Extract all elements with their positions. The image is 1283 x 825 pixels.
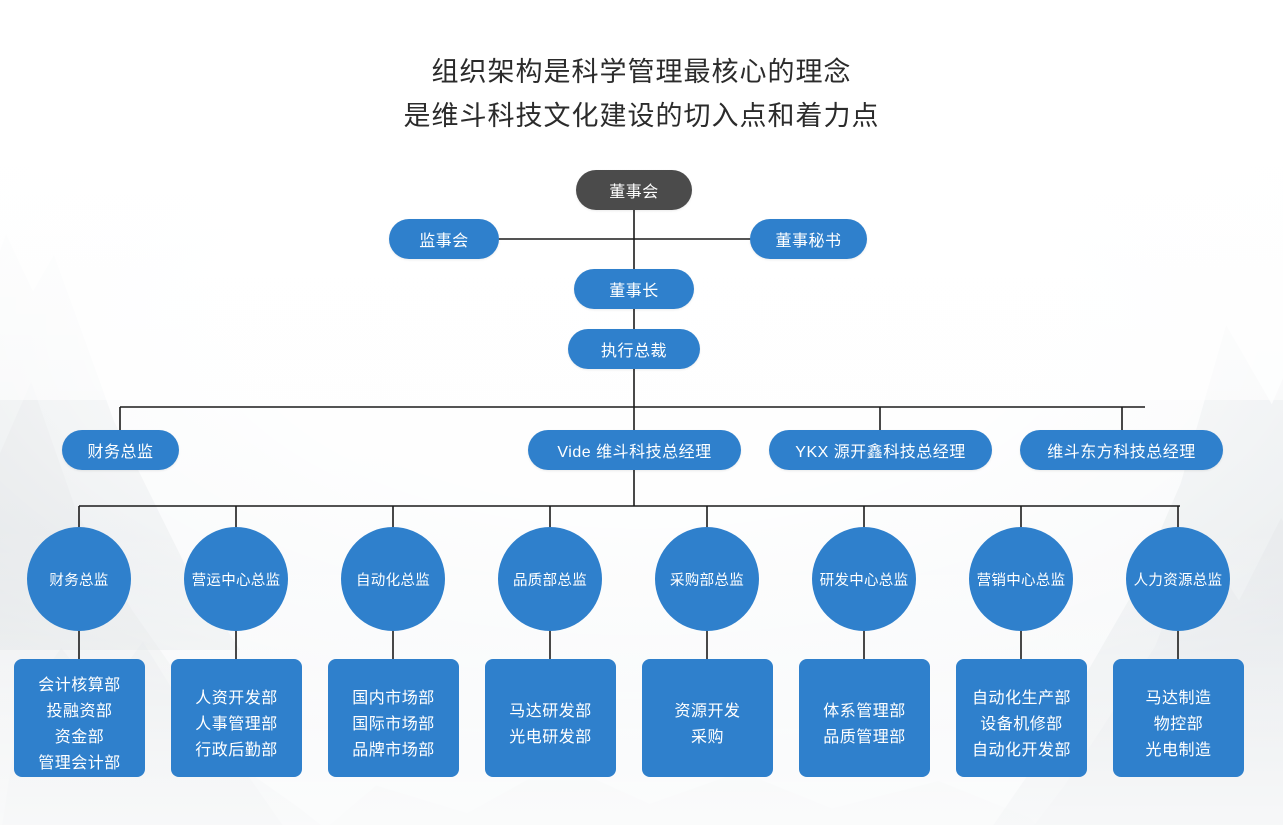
dept-box-quality[interactable]: 马达研发部光电研发部 <box>485 659 616 777</box>
dept-line: 人事管理部 <box>171 712 302 738</box>
page-title-line-2: 是维斗科技文化建设的切入点和着力点 <box>0 94 1283 138</box>
node-board-secretary[interactable]: 董事秘书 <box>750 219 867 259</box>
dept-box-finance[interactable]: 会计核算部投融资部资金部管理会计部 <box>14 659 145 777</box>
dept-line: 自动化开发部 <box>956 738 1087 764</box>
node-director-rnd[interactable]: 研发中心总监 <box>812 527 916 631</box>
dept-box-marketing[interactable]: 自动化生产部设备机修部自动化开发部 <box>956 659 1087 777</box>
node-chairman[interactable]: 董事长 <box>574 269 694 309</box>
node-supervisory-board[interactable]: 监事会 <box>389 219 499 259</box>
dept-line: 行政后勤部 <box>171 738 302 764</box>
dept-line: 光电研发部 <box>485 725 616 751</box>
dept-line: 品牌市场部 <box>328 738 459 764</box>
dept-line: 光电制造 <box>1113 738 1244 764</box>
dept-line: 管理会计部 <box>14 751 145 777</box>
dept-line: 人资开发部 <box>171 686 302 712</box>
node-director-procurement[interactable]: 采购部总监 <box>655 527 759 631</box>
dept-line: 国内市场部 <box>328 686 459 712</box>
dept-box-procurement[interactable]: 资源开发采购 <box>642 659 773 777</box>
node-director-finance[interactable]: 财务总监 <box>27 527 131 631</box>
title-block: 组织架构是科学管理最核心的理念 是维斗科技文化建设的切入点和着力点 <box>0 50 1283 138</box>
page-title-line-1: 组织架构是科学管理最核心的理念 <box>0 50 1283 94</box>
dept-box-hr[interactable]: 马达制造物控部光电制造 <box>1113 659 1244 777</box>
dept-line: 物控部 <box>1113 712 1244 738</box>
dept-line: 投融资部 <box>14 699 145 725</box>
dept-line: 国际市场部 <box>328 712 459 738</box>
node-director-automation[interactable]: 自动化总监 <box>341 527 445 631</box>
dept-line: 采购 <box>642 725 773 751</box>
dept-line: 马达制造 <box>1113 686 1244 712</box>
node-division-finance-director[interactable]: 财务总监 <box>62 430 179 470</box>
org-chart-canvas: 组织架构是科学管理最核心的理念 是维斗科技文化建设的切入点和着力点 董事会 监事… <box>0 0 1283 825</box>
dept-line: 会计核算部 <box>14 673 145 699</box>
node-division-weidou-east-gm[interactable]: 维斗东方科技总经理 <box>1020 430 1223 470</box>
dept-box-automation[interactable]: 国内市场部国际市场部品牌市场部 <box>328 659 459 777</box>
dept-box-rnd[interactable]: 体系管理部品质管理部 <box>799 659 930 777</box>
dept-line: 体系管理部 <box>799 699 930 725</box>
dept-line: 资金部 <box>14 725 145 751</box>
node-director-hr[interactable]: 人力资源总监 <box>1126 527 1230 631</box>
node-executive-president[interactable]: 执行总裁 <box>568 329 700 369</box>
node-director-marketing[interactable]: 营销中心总监 <box>969 527 1073 631</box>
node-board-of-directors[interactable]: 董事会 <box>576 170 692 210</box>
dept-line: 马达研发部 <box>485 699 616 725</box>
dept-line: 资源开发 <box>642 699 773 725</box>
node-director-quality[interactable]: 品质部总监 <box>498 527 602 631</box>
node-division-ykx-gm[interactable]: YKX 源开鑫科技总经理 <box>769 430 992 470</box>
node-division-vide-gm[interactable]: Vide 维斗科技总经理 <box>528 430 741 470</box>
dept-box-operations[interactable]: 人资开发部人事管理部行政后勤部 <box>171 659 302 777</box>
dept-line: 设备机修部 <box>956 712 1087 738</box>
dept-line: 品质管理部 <box>799 725 930 751</box>
dept-line: 自动化生产部 <box>956 686 1087 712</box>
node-director-operations[interactable]: 营运中心总监 <box>184 527 288 631</box>
